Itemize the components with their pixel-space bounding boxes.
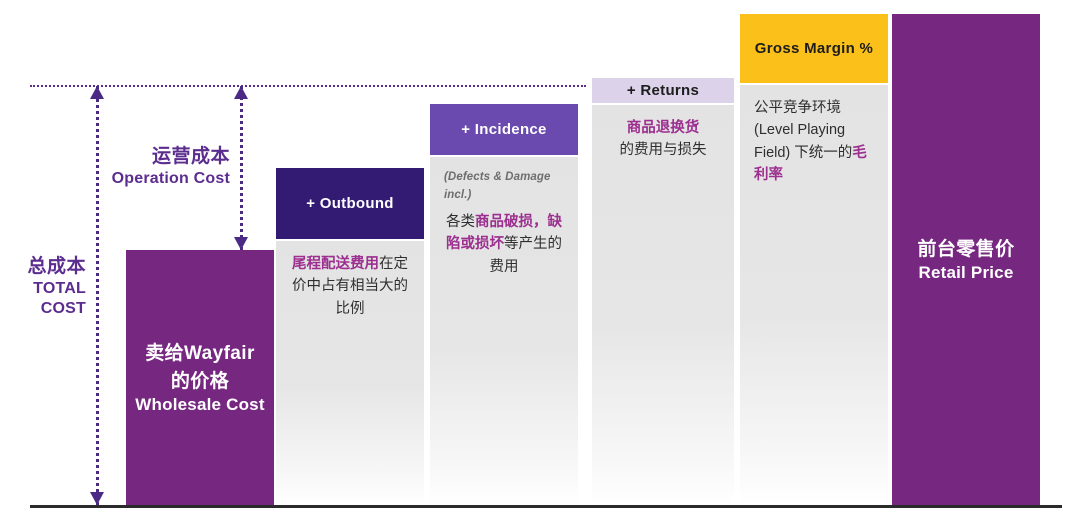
operation-cost-label-cn: 运营成本 [100, 145, 230, 169]
gross-margin-body-text-b: (Level Playing Field) 下统一的 [754, 122, 852, 160]
retail-price-en: Retail Price [917, 263, 1014, 283]
total-cost-label: 总成本 TOTAL COST [0, 255, 86, 319]
outbound-body: 尾程配送费用在定价中占有相当大的比例 [276, 241, 424, 505]
returns-header[interactable]: + Returns [592, 78, 734, 103]
operation-cost-label: 运营成本 Operation Cost [100, 145, 230, 189]
wholesale-cost-cn-line2: 的价格 [135, 368, 264, 396]
returns-body-text-rest: 的费用与损失 [620, 142, 707, 158]
returns-body-text-highlight: 商品退换货 [627, 120, 700, 136]
wholesale-cost-block-text: 卖给Wayfair 的价格 Wholesale Cost [135, 340, 264, 415]
total-cost-arrow-up-icon [90, 86, 104, 99]
operation-cost-label-en: Operation Cost [100, 169, 230, 189]
operation-cost-shaft [240, 86, 243, 250]
wholesale-cost-block: 卖给Wayfair 的价格 Wholesale Cost [126, 250, 274, 505]
retail-price-cn: 前台零售价 [917, 236, 1014, 264]
incidence-body: (Defects & Damage incl.) 各类商品破损，缺陷或损坏等产生… [430, 157, 578, 505]
outbound-header[interactable]: + Outbound [276, 168, 424, 239]
total-cost-shaft [96, 86, 99, 505]
returns-body: 商品退换货 的费用与损失 [592, 105, 734, 505]
operation-cost-arrow-up-icon [234, 86, 248, 99]
operation-cost-measure-arrow [234, 86, 248, 250]
outbound-header-label: + Outbound [306, 195, 394, 212]
gross-margin-header[interactable]: Gross Margin % [740, 14, 888, 83]
total-cost-label-cn: 总成本 [0, 255, 86, 279]
top-guide-dotted-line [30, 85, 586, 87]
retail-price-block-text: 前台零售价 Retail Price [917, 236, 1014, 284]
wholesale-cost-en: Wholesale Cost [135, 395, 264, 415]
wholesale-cost-cn-line1: 卖给Wayfair [135, 340, 264, 368]
incidence-note: (Defects & Damage incl.) [444, 169, 564, 205]
gross-margin-body: 公平竞争环境(Level Playing Field) 下统一的毛利率 [740, 85, 888, 505]
waterfall-chart: 总成本 TOTAL COST 运营成本 Operation Cost 卖给Way… [0, 0, 1080, 528]
total-cost-arrow-down-icon [90, 492, 104, 505]
returns-header-label: + Returns [627, 82, 699, 99]
incidence-header[interactable]: + Incidence [430, 104, 578, 155]
gross-margin-header-label: Gross Margin % [755, 40, 873, 57]
total-cost-label-en: TOTAL COST [0, 279, 86, 319]
gross-margin-body-text-a: 公平竞争环境 [754, 100, 841, 116]
incidence-header-label: + Incidence [461, 121, 546, 138]
outbound-body-text-highlight: 尾程配送费用 [292, 256, 379, 272]
retail-price-block: 前台零售价 Retail Price [892, 14, 1040, 505]
incidence-body-text-a: 各类 [446, 214, 475, 230]
chart-baseline [30, 505, 1062, 508]
operation-cost-arrow-down-icon [234, 237, 248, 250]
